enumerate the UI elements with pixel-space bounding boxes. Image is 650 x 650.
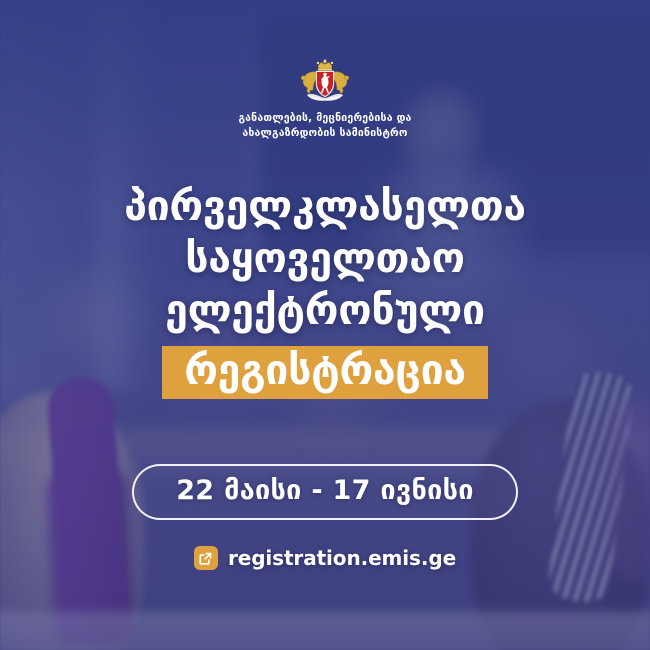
external-link-icon[interactable] [194, 546, 218, 570]
page-title: პირველკლასელთა საყოველთაო ელექტრონული რე… [124, 181, 526, 399]
poster-content: განათლების, მეცნიერებისა და ახალგაზრდობი… [0, 0, 650, 650]
headline-line-3: ელექტრონული [124, 285, 526, 337]
registration-date-badge: 22 მაისი - 17 ივნისი [132, 464, 518, 520]
headline-line-1: პირველკლასელთა [124, 181, 526, 233]
headline-highlight-registration: რეგისტრაცია [162, 346, 488, 399]
headline-line-2: საყოველთაო [124, 233, 526, 285]
ministry-line-2: ახალგაზრდობის სამინისტრო [238, 126, 411, 141]
georgia-coat-of-arms-icon [299, 58, 351, 104]
registration-url-row[interactable]: registration.emis.ge [194, 546, 456, 570]
ministry-line-1: განათლების, მეცნიერებისა და [238, 111, 411, 126]
ministry-header: განათლების, მეცნიერებისა და ახალგაზრდობი… [238, 58, 411, 141]
poster-root: განათლების, მეცნიერებისა და ახალგაზრდობი… [0, 0, 650, 650]
ministry-name: განათლების, მეცნიერებისა და ახალგაზრდობი… [238, 111, 411, 141]
headline-highlight-wrap: რეგისტრაცია [124, 345, 526, 399]
registration-url-text[interactable]: registration.emis.ge [228, 546, 456, 570]
